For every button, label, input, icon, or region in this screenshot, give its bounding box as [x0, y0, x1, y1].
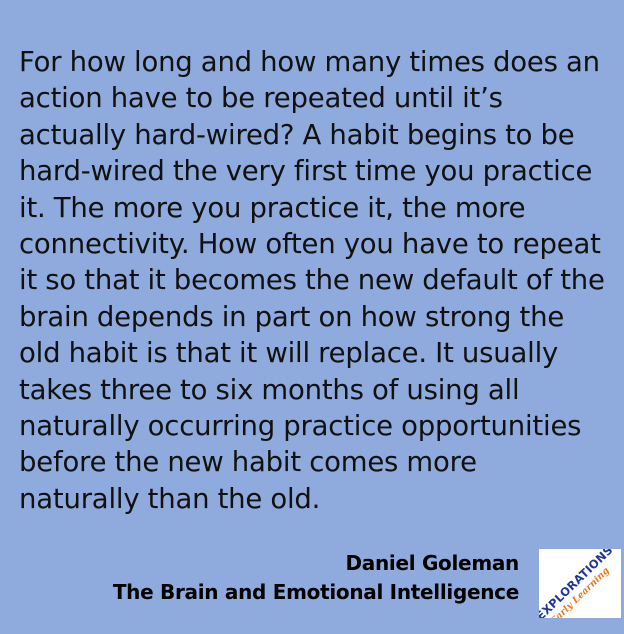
logo-inner: EXPLORATIONS Early Learning	[539, 549, 621, 618]
explorations-logo: EXPLORATIONS Early Learning	[539, 549, 621, 618]
attribution-block: Daniel Goleman The Brain and Emotional I…	[40, 549, 519, 607]
attribution-author: Daniel Goleman	[40, 549, 519, 578]
quote-text: For how long and how many times does an …	[19, 44, 605, 517]
logo-wordmark-explorations: EXPLORATIONS	[539, 549, 616, 618]
attribution-source: The Brain and Emotional Intelligence	[40, 578, 519, 607]
quote-slide: For how long and how many times does an …	[0, 0, 624, 634]
